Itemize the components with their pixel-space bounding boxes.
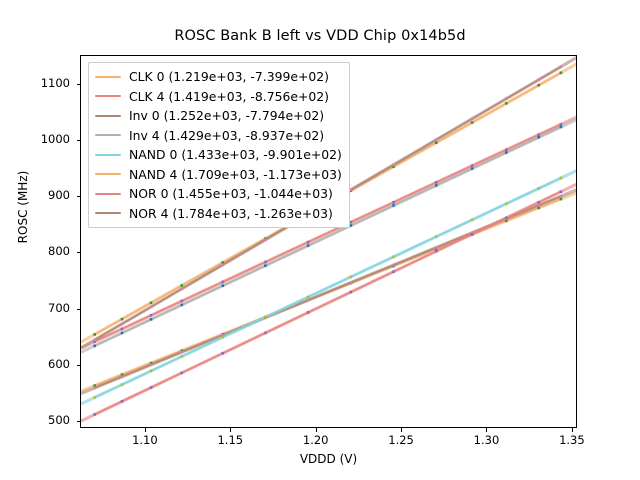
legend-color-swatch: [95, 193, 121, 195]
data-point-marker: [537, 84, 540, 87]
legend-item-nor-0[interactable]: NOR 0 (1.455e+03, -1.044e+03): [95, 184, 342, 204]
y-tick-label: 900: [0, 188, 70, 202]
y-tick-label: 700: [0, 301, 70, 315]
data-point-marker: [264, 316, 267, 319]
data-point-marker: [392, 204, 395, 207]
y-axis-label: ROSC (MHz): [16, 107, 30, 307]
data-point-marker: [537, 207, 540, 210]
legend-color-swatch: [95, 95, 121, 97]
data-point-marker: [307, 296, 310, 299]
legend-color-swatch: [95, 154, 121, 156]
y-tick-mark: [77, 252, 81, 253]
data-point-marker: [121, 383, 124, 386]
data-point-marker: [221, 336, 224, 339]
data-point-marker: [350, 188, 353, 191]
y-tick-label: 600: [0, 357, 70, 371]
data-point-marker: [505, 217, 508, 220]
data-point-marker: [392, 256, 395, 259]
data-point-marker: [471, 164, 474, 167]
x-tick-mark: [145, 428, 146, 432]
x-tick-label: 1.10: [115, 433, 175, 447]
matplotlib-figure: ROSC Bank B left vs VDD Chip 0x14b5d 1.1…: [0, 0, 640, 480]
data-point-marker: [435, 235, 438, 238]
x-tick-mark: [316, 428, 317, 432]
data-point-marker: [392, 201, 395, 204]
data-point-marker: [307, 311, 310, 314]
x-axis-label: VDDD (V): [80, 452, 577, 466]
legend-item-nor-4[interactable]: NOR 4 (1.784e+03, -1.263e+03): [95, 204, 342, 224]
x-tick-mark: [486, 428, 487, 432]
data-point-marker: [435, 138, 438, 141]
x-tick-label: 1.15: [200, 433, 260, 447]
data-point-marker: [307, 244, 310, 247]
y-tick-label: 800: [0, 244, 70, 258]
data-point-marker: [264, 264, 267, 267]
x-tick-label: 1.25: [371, 433, 431, 447]
data-point-marker: [264, 332, 267, 335]
data-point-marker: [180, 351, 183, 354]
legend-color-swatch: [95, 212, 121, 214]
data-point-marker: [471, 233, 474, 236]
data-point-marker: [435, 250, 438, 253]
data-point-marker: [435, 141, 438, 144]
data-point-marker: [221, 264, 224, 267]
legend-item-nand-0[interactable]: NAND 0 (1.433e+03, -9.901e+02): [95, 145, 342, 165]
legend-item-label: NAND 0 (1.433e+03, -9.901e+02): [129, 147, 342, 162]
data-point-marker: [93, 345, 96, 348]
data-point-marker: [537, 133, 540, 136]
data-point-marker: [505, 151, 508, 154]
data-point-marker: [537, 78, 540, 81]
data-point-marker: [560, 177, 563, 180]
legend-item-inv-0[interactable]: Inv 0 (1.252e+03, -7.794e+02): [95, 106, 342, 126]
data-point-marker: [350, 281, 353, 284]
data-point-marker: [180, 372, 183, 375]
data-point-marker: [180, 304, 183, 307]
legend-color-swatch: [95, 76, 121, 78]
page-title: ROSC Bank B left vs VDD Chip 0x14b5d: [0, 28, 640, 44]
data-point-marker: [150, 386, 153, 389]
data-point-marker: [537, 187, 540, 190]
data-point-marker: [392, 163, 395, 166]
data-point-marker: [537, 136, 540, 139]
data-point-marker: [221, 261, 224, 264]
data-point-marker: [121, 318, 124, 321]
legend-item-clk-0[interactable]: CLK 0 (1.219e+03, -7.399e+02): [95, 67, 342, 87]
data-point-marker: [221, 284, 224, 287]
data-point-marker: [150, 314, 153, 317]
data-point-marker: [93, 333, 96, 336]
data-point-marker: [93, 339, 96, 342]
data-point-marker: [471, 117, 474, 120]
data-point-marker: [471, 218, 474, 221]
x-tick-label: 1.35: [542, 433, 602, 447]
data-point-marker: [560, 71, 563, 74]
y-tick-mark: [77, 140, 81, 141]
y-tick-mark: [77, 196, 81, 197]
data-point-marker: [307, 241, 310, 244]
data-point-marker: [121, 400, 124, 403]
legend-item-label: NOR 0 (1.455e+03, -1.044e+03): [129, 186, 333, 201]
data-point-marker: [150, 363, 153, 366]
data-point-marker: [435, 181, 438, 184]
legend-color-swatch: [95, 115, 121, 117]
data-point-marker: [537, 204, 540, 207]
data-point-marker: [93, 396, 96, 399]
data-point-marker: [93, 384, 96, 387]
data-point-marker: [505, 202, 508, 205]
data-point-marker: [392, 264, 395, 267]
legend-item-clk-4[interactable]: CLK 4 (1.419e+03, -8.756e+02): [95, 87, 342, 107]
data-point-marker: [560, 123, 563, 126]
data-point-marker: [471, 121, 474, 124]
y-tick-label: 1000: [0, 132, 70, 146]
data-point-marker: [350, 276, 353, 279]
data-point-marker: [180, 355, 183, 358]
data-point-marker: [350, 291, 353, 294]
data-point-marker: [560, 190, 563, 193]
data-point-marker: [221, 281, 224, 284]
x-tick-mark: [230, 428, 231, 432]
legend-item-label: Inv 0 (1.252e+03, -7.794e+02): [129, 108, 324, 123]
legend-item-label: Inv 4 (1.429e+03, -8.937e+02): [129, 128, 324, 143]
data-point-marker: [350, 224, 353, 227]
data-point-marker: [121, 332, 124, 335]
data-point-marker: [350, 221, 353, 224]
legend: CLK 0 (1.219e+03, -7.399e+02)CLK 4 (1.41…: [88, 62, 350, 228]
data-point-marker: [180, 300, 183, 303]
data-point-marker: [264, 239, 267, 242]
data-point-marker: [121, 323, 124, 326]
data-point-marker: [121, 375, 124, 378]
data-point-marker: [150, 306, 153, 309]
data-point-marker: [307, 299, 310, 302]
data-point-marker: [180, 284, 183, 287]
legend-color-swatch: [95, 134, 121, 136]
data-point-marker: [505, 148, 508, 151]
legend-item-nand-4[interactable]: NAND 4 (1.709e+03, -1.173e+03): [95, 165, 342, 185]
y-tick-mark: [77, 365, 81, 366]
data-point-marker: [150, 318, 153, 321]
data-point-marker: [221, 352, 224, 355]
legend-item-inv-4[interactable]: Inv 4 (1.429e+03, -8.937e+02): [95, 126, 342, 146]
x-tick-mark: [401, 428, 402, 432]
legend-item-label: NAND 4 (1.709e+03, -1.173e+03): [129, 167, 342, 182]
data-point-marker: [560, 195, 563, 198]
data-point-marker: [93, 413, 96, 416]
legend-item-label: NOR 4 (1.784e+03, -1.263e+03): [129, 206, 333, 221]
y-tick-label: 1100: [0, 76, 70, 90]
x-tick-label: 1.30: [456, 433, 516, 447]
data-point-marker: [560, 198, 563, 201]
data-point-marker: [180, 288, 183, 291]
data-point-marker: [121, 328, 124, 331]
data-point-marker: [93, 387, 96, 390]
y-tick-mark: [77, 421, 81, 422]
data-point-marker: [560, 65, 563, 68]
data-point-marker: [505, 102, 508, 105]
data-point-marker: [150, 302, 153, 305]
y-tick-mark: [77, 309, 81, 310]
data-point-marker: [150, 370, 153, 373]
data-point-marker: [537, 201, 540, 204]
x-tick-mark: [572, 428, 573, 432]
data-point-marker: [264, 261, 267, 264]
legend-item-label: CLK 4 (1.419e+03, -8.756e+02): [129, 89, 329, 104]
legend-color-swatch: [95, 173, 121, 175]
data-point-marker: [471, 167, 474, 170]
data-point-marker: [435, 246, 438, 249]
legend-item-label: CLK 0 (1.219e+03, -7.399e+02): [129, 69, 329, 84]
x-tick-label: 1.20: [286, 433, 346, 447]
y-tick-label: 500: [0, 413, 70, 427]
data-point-marker: [560, 126, 563, 129]
data-point-marker: [392, 270, 395, 273]
data-point-marker: [435, 184, 438, 187]
data-point-marker: [505, 97, 508, 100]
y-tick-mark: [77, 84, 81, 85]
